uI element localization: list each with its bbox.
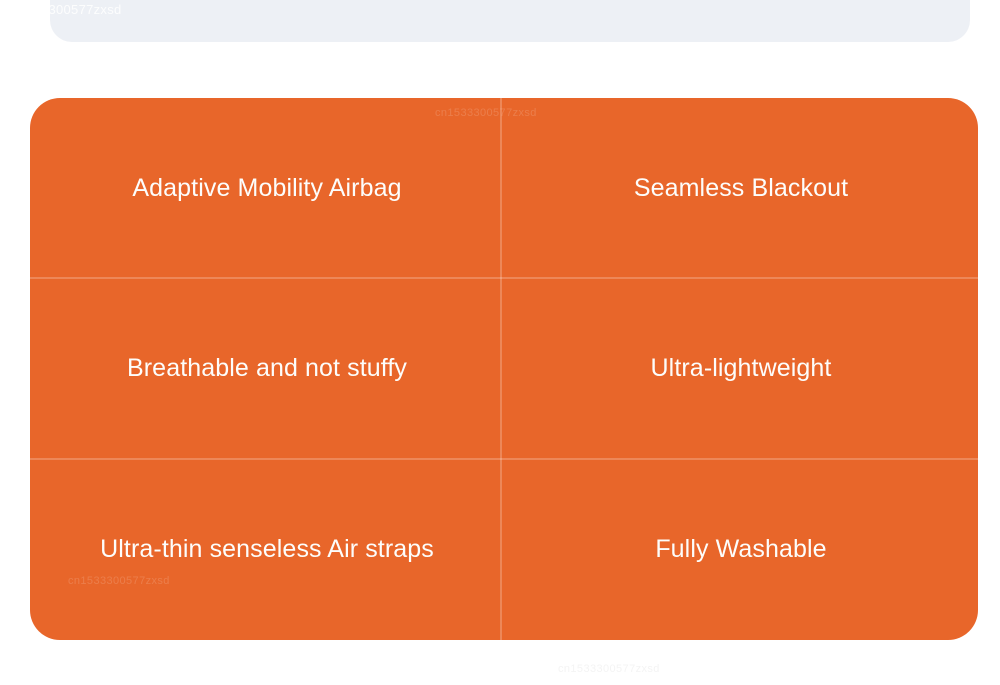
page-root: cn1533300577zxsd Adaptive Mobility Airba… — [0, 0, 1000, 685]
feature-cell-ultra-thin-senseless-air-straps[interactable]: Ultra-thin senseless Air straps — [30, 459, 504, 640]
feature-card: Adaptive Mobility Airbag Seamless Blacko… — [30, 98, 978, 640]
feature-label: Ultra-thin senseless Air straps — [100, 534, 434, 565]
page-watermark: cn1533300577zxsd — [558, 663, 660, 675]
feature-label: Breathable and not stuffy — [127, 353, 407, 384]
feature-cell-adaptive-mobility-airbag[interactable]: Adaptive Mobility Airbag — [30, 98, 504, 279]
feature-cell-breathable-and-not-stuffy[interactable]: Breathable and not stuffy — [30, 279, 504, 460]
feature-grid: Adaptive Mobility Airbag Seamless Blacko… — [30, 98, 978, 640]
grid-divider-horizontal-2 — [30, 458, 978, 460]
feature-cell-fully-washable[interactable]: Fully Washable — [504, 459, 978, 640]
top-panel-watermark: cn1533300577zxsd — [4, 2, 122, 17]
feature-label: Seamless Blackout — [634, 173, 848, 204]
feature-label: Ultra-lightweight — [651, 353, 832, 384]
feature-cell-ultra-lightweight[interactable]: Ultra-lightweight — [504, 279, 978, 460]
feature-cell-seamless-blackout[interactable]: Seamless Blackout — [504, 98, 978, 279]
top-panel: cn1533300577zxsd — [50, 0, 970, 42]
grid-divider-vertical — [500, 98, 502, 640]
feature-label: Adaptive Mobility Airbag — [132, 173, 401, 204]
grid-divider-horizontal-1 — [30, 277, 978, 279]
feature-label: Fully Washable — [655, 534, 826, 565]
